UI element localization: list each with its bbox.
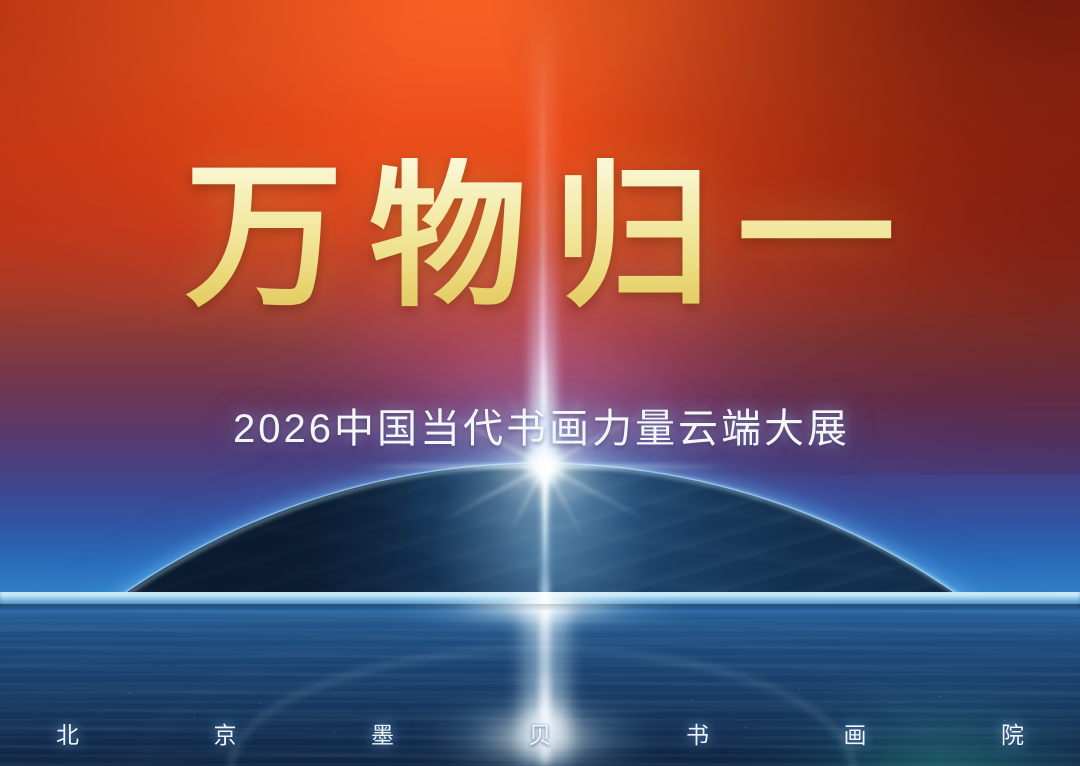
horizon-light-hotspot xyxy=(390,592,690,634)
footer-char-1: 北 xyxy=(56,716,79,750)
poster-canvas: 万物归一 2026中国当代书画力量云端大展 北 京 墨 贝 书 画 院 xyxy=(0,0,1080,766)
footer-char-3: 墨 xyxy=(371,716,394,750)
poster-main-title: 万物归一 xyxy=(0,158,1080,316)
poster-footer-organization: 北 京 墨 贝 书 画 院 xyxy=(56,716,1024,750)
footer-char-2: 京 xyxy=(214,716,237,750)
footer-char-4: 贝 xyxy=(529,716,552,750)
footer-char-7: 院 xyxy=(1001,716,1024,750)
footer-char-6: 画 xyxy=(844,716,867,750)
poster-subtitle: 2026中国当代书画力量云端大展 xyxy=(0,407,1080,451)
light-beam-over-globe xyxy=(541,466,550,598)
footer-char-5: 书 xyxy=(686,716,709,750)
